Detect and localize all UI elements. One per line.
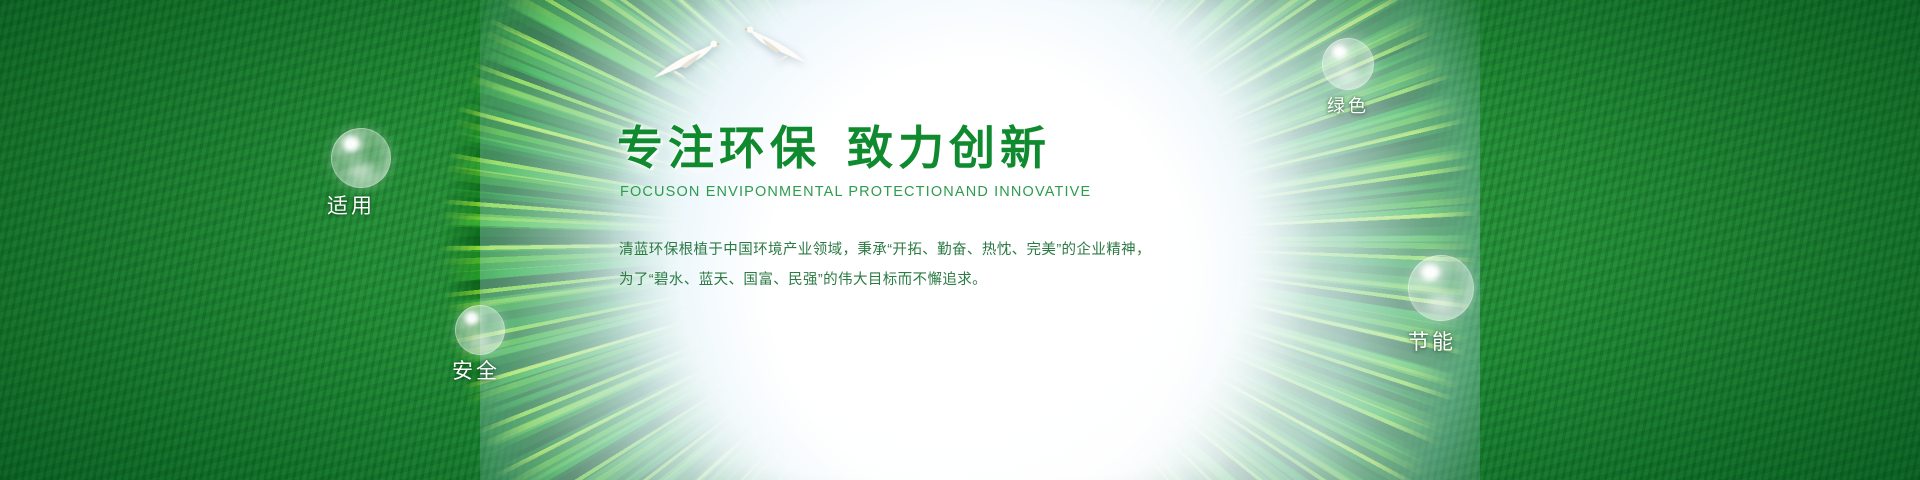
page-title: 专注环保致力创新 (617, 125, 1357, 171)
intro-paragraph-line-2: 为了“碧水、蓝天、国富、民强”的伟大目标而不懈追求。 (619, 265, 1357, 295)
bubble-lvse (1322, 38, 1374, 90)
bubble-anquan (455, 305, 505, 355)
bubble-shiyong (331, 128, 391, 188)
headline-part-2: 致力创新 (847, 122, 1051, 174)
bubble-label-anquan: 安全 (452, 355, 500, 385)
bubble-label-jieneng: 节能 (1408, 326, 1456, 356)
bubble-label-lvse: 绿色 (1327, 92, 1369, 118)
hero-banner: 适用 安全 绿色 节能 专注环保致力创新 FOCUSON ENVIPONMENT… (0, 0, 1920, 480)
bubble-label-shiyong: 适用 (327, 190, 375, 220)
page-subtitle: FOCUSON ENVIPONMENTAL PROTECTIONAND INNO… (620, 184, 1357, 200)
headline-part-1: 专注环保 (617, 122, 821, 174)
intro-paragraph-line-1: 清蓝环保根植于中国环境产业领域，秉承“开拓、勤奋、热忱、完美”的企业精神， (619, 235, 1357, 265)
intro-paragraph: 清蓝环保根植于中国环境产业领域，秉承“开拓、勤奋、热忱、完美”的企业精神， 为了… (619, 235, 1357, 295)
hero-text-block: 专注环保致力创新 FOCUSON ENVIPONMENTAL PROTECTIO… (617, 125, 1357, 295)
bubble-jieneng (1408, 255, 1474, 321)
